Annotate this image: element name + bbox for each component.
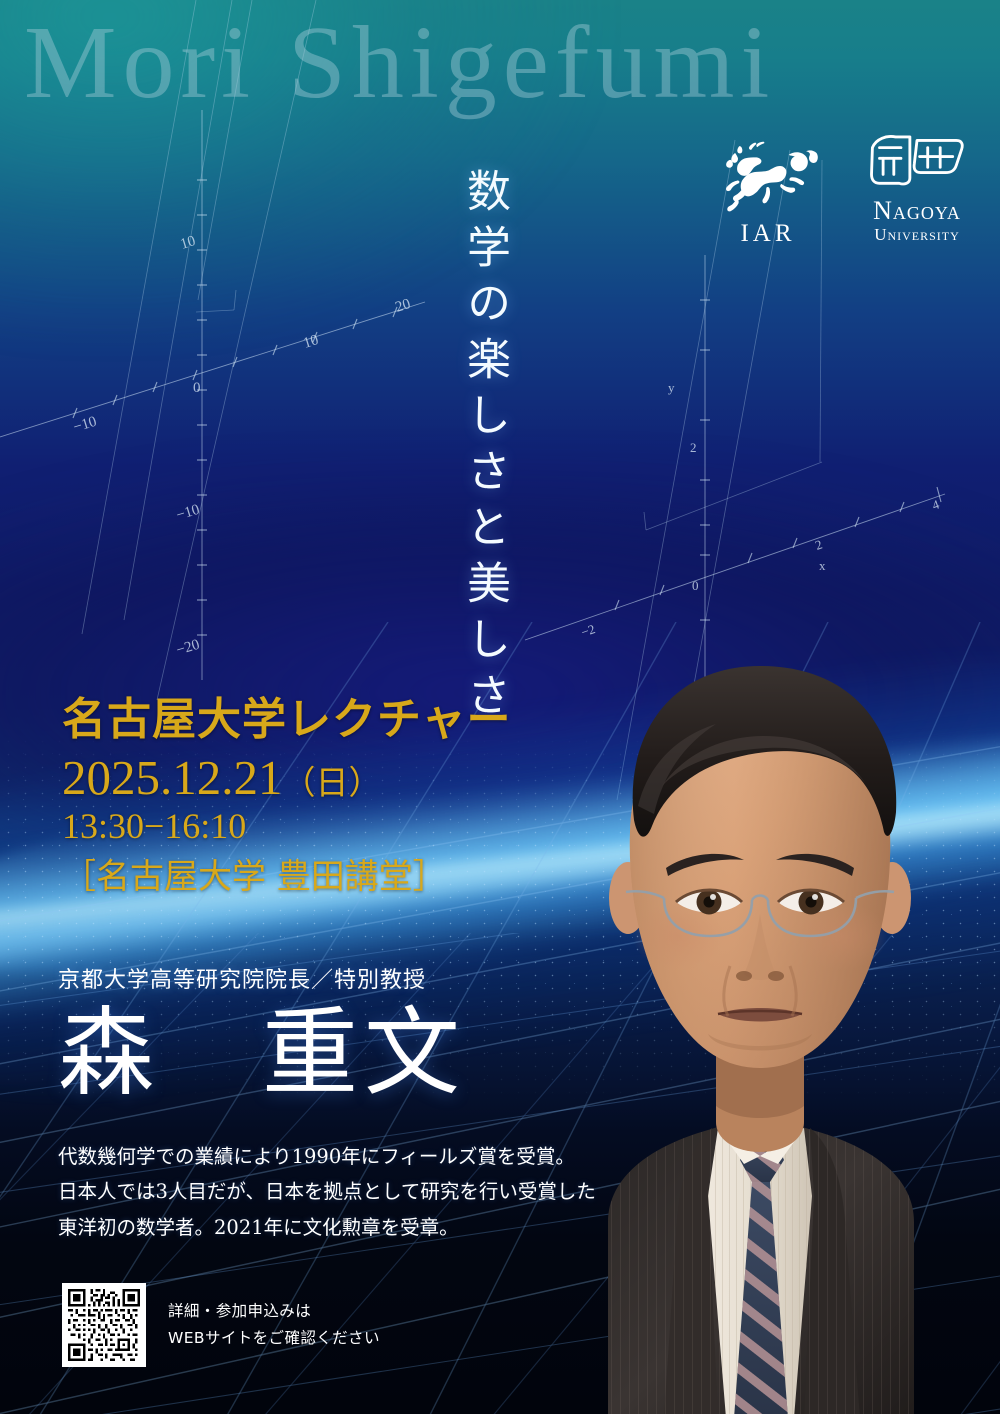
- axis-b-label-0: 0: [692, 578, 699, 593]
- axis-a-label-10-top: 10: [178, 233, 197, 253]
- footer-instructions: 詳細・参加申込みは WEBサイトをご確認ください: [168, 1298, 380, 1352]
- nagoya-logo-line2: University: [856, 224, 978, 246]
- event-info-block: 名古屋大学レクチャー 2025.12.21（日） 13:30−16:10 ［名古…: [62, 694, 512, 899]
- speaker-bio-line-3: 東洋初の数学者。2021年に文化勲章を受章。: [58, 1210, 518, 1245]
- event-venue: ［名古屋大学 豊田講堂］: [62, 856, 512, 899]
- lecture-theme-vertical: 数学の楽しさと美しさ: [462, 168, 506, 728]
- axis-b-label-x: x: [819, 558, 826, 573]
- nagoya-university-emblem-icon: [863, 128, 971, 194]
- footer-line-1: 詳細・参加申込みは: [168, 1298, 380, 1325]
- axis-b-label-y: y: [668, 380, 675, 395]
- event-time: 13:30−16:10: [62, 805, 512, 848]
- footer-line-2: WEBサイトをご確認ください: [168, 1325, 380, 1352]
- nagoya-logo-line1: Nagoya: [856, 198, 978, 224]
- event-date: 2025.12.21: [62, 750, 283, 805]
- kirin-logo-icon: [716, 139, 820, 219]
- suit-shape: [608, 1114, 914, 1414]
- logo-group: IAR Nagoya University: [716, 128, 978, 246]
- qr-code[interactable]: [62, 1283, 146, 1367]
- axis-b-label-2-x: 2: [813, 537, 824, 553]
- speaker-bio: 代数幾何学での業績により1990年にフィールズ賞を受賞。 日本人では3人目だが、…: [58, 1139, 518, 1245]
- nagoya-university-logo: Nagoya University: [856, 128, 978, 246]
- page-title-wordmark: Mori Shigefumi: [24, 8, 984, 117]
- poster-canvas: 10 20 0 10 −10 −10 −20: [0, 0, 1000, 1414]
- lecture-title: 名古屋大学レクチャー: [62, 694, 512, 745]
- speaker-affiliation: 京都大学高等研究院院長／特別教授: [58, 968, 466, 994]
- speaker-name: 森 重文: [58, 1000, 466, 1108]
- axis-b-label-2-y: 2: [690, 440, 697, 455]
- event-day-of-week: （日）: [283, 763, 382, 802]
- speaker-bio-line-1: 代数幾何学での業績により1990年にフィールズ賞を受賞。: [58, 1139, 518, 1174]
- speaker-block: 京都大学高等研究院院長／特別教授 森 重文: [58, 968, 466, 1108]
- axis-a-label-20: 20: [393, 296, 412, 316]
- speaker-portrait: [512, 636, 1000, 1414]
- axis-a-label-0: 0: [193, 380, 201, 396]
- iar-logo-text: IAR: [716, 221, 820, 246]
- speaker-bio-line-2: 日本人では3人目だが、日本を拠点として研究を行い受賞した: [58, 1174, 518, 1209]
- event-date-line: 2025.12.21（日）: [62, 749, 512, 807]
- footer-block: 詳細・参加申込みは WEBサイトをご確認ください: [62, 1283, 380, 1367]
- iar-logo: IAR: [716, 139, 820, 246]
- axis-a-label-10-right: 10: [301, 332, 320, 352]
- axis-a-label-neg10-left: −10: [71, 414, 98, 436]
